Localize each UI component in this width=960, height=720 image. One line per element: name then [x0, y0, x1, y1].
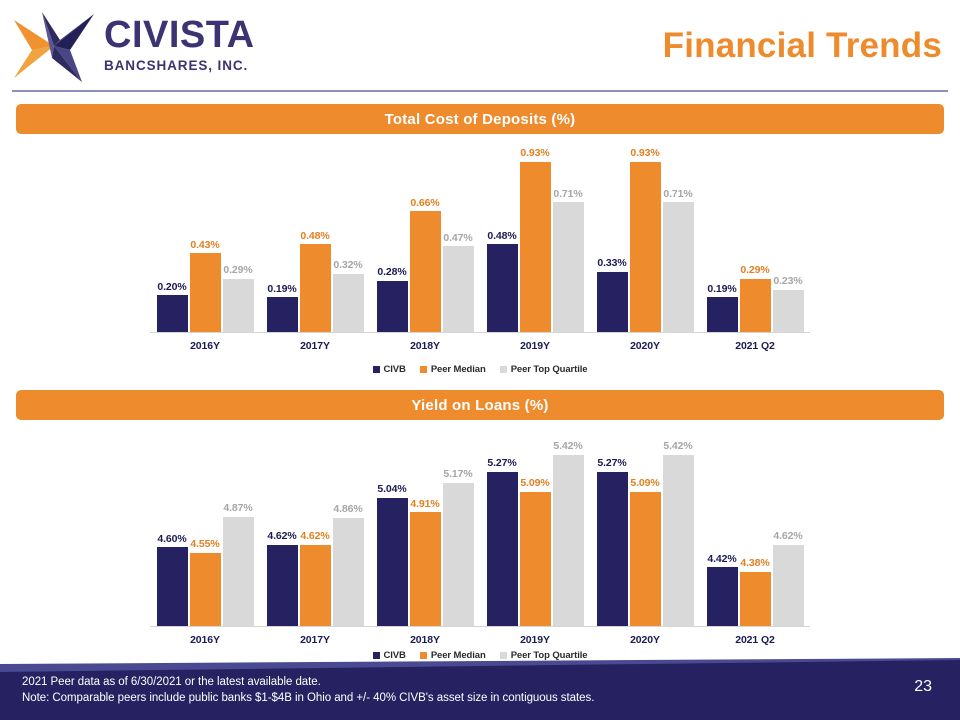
chart-bar-slot: 0.93% — [520, 148, 551, 332]
chart-group-bars: 4.42%4.38%4.62% — [700, 440, 810, 626]
chart-category-label: 2018Y — [370, 634, 480, 646]
chart-bar[interactable] — [410, 512, 441, 626]
chart-group-bars: 5.04%4.91%5.17% — [370, 440, 480, 626]
chart-bar-value-label: 4.38% — [740, 558, 769, 569]
footer-note-line-2: Note: Comparable peers include public ba… — [22, 690, 594, 706]
chart-bar[interactable] — [300, 244, 331, 332]
chart-bar-value-label: 4.62% — [267, 531, 296, 542]
chart-bar-value-label: 5.04% — [377, 484, 406, 495]
chart-bar-slot: 4.62% — [300, 531, 331, 626]
chart-bar[interactable] — [740, 279, 771, 332]
chart-group-2019y: 0.48%0.93%0.71% — [480, 140, 590, 332]
chart-bar[interactable] — [597, 272, 628, 332]
chart-category-label: 2021 Q2 — [700, 340, 810, 352]
chart-category-label: 2019Y — [480, 340, 590, 352]
legend-swatch-icon — [420, 366, 427, 373]
chart-plot-area: 0.20%0.43%0.29%0.19%0.48%0.32%0.28%0.66%… — [150, 140, 810, 332]
chart-bar-value-label: 5.27% — [597, 458, 626, 469]
chart-bar-slot: 0.93% — [630, 148, 661, 332]
chart-bar-slot: 5.42% — [553, 441, 584, 626]
chart-axis-line — [150, 626, 810, 627]
chart-group-2016y: 4.60%4.55%4.87% — [150, 440, 260, 626]
chart-bar-value-label: 0.48% — [487, 231, 516, 242]
chart-bar-slot: 0.71% — [663, 189, 694, 332]
chart-bar-value-label: 0.19% — [707, 284, 736, 295]
chart-bar-slot: 0.29% — [740, 265, 771, 332]
chart-group-bars: 0.33%0.93%0.71% — [590, 140, 700, 332]
legend-swatch-icon — [500, 366, 507, 373]
chart-bar-value-label: 0.33% — [597, 258, 626, 269]
chart-category-label: 2017Y — [260, 340, 370, 352]
logo-wordmark: CIVISTA BANCSHARES, INC. — [104, 16, 274, 73]
logo-subtitle: BANCSHARES, INC. — [104, 58, 274, 73]
footer-note-line-1: 2021 Peer data as of 6/30/2021 or the la… — [22, 674, 594, 690]
chart-bar-value-label: 0.71% — [553, 189, 582, 200]
chart-category-label: 2019Y — [480, 634, 590, 646]
chart-group-bars: 0.19%0.48%0.32% — [260, 140, 370, 332]
chart-bar[interactable] — [663, 202, 694, 332]
chart-bar[interactable] — [190, 553, 221, 626]
chart-category-label: 2016Y — [150, 340, 260, 352]
chart-bar-slot: 0.23% — [773, 276, 804, 332]
chart-bar[interactable] — [267, 297, 298, 332]
chart-bar[interactable] — [223, 517, 254, 626]
chart-group-2020y: 0.33%0.93%0.71% — [590, 140, 700, 332]
legend-item-quartile[interactable]: Peer Top Quartile — [500, 364, 588, 375]
chart-bar[interactable] — [520, 162, 551, 332]
chart-axis-line — [150, 332, 810, 333]
chart-group-bars: 5.27%5.09%5.42% — [480, 440, 590, 626]
header-divider — [12, 90, 948, 92]
chart-bar-slot: 0.28% — [377, 267, 408, 332]
chart-bar[interactable] — [157, 295, 188, 332]
chart-bar-slot: 4.60% — [157, 534, 188, 626]
legend-item-civb[interactable]: CIVB — [373, 364, 406, 375]
chart-bar[interactable] — [520, 492, 551, 626]
chart-bar-slot: 5.09% — [520, 478, 551, 626]
chart-bar-slot: 0.29% — [223, 265, 254, 332]
chart-bar-slot: 4.91% — [410, 499, 441, 626]
chart-group-bars: 0.20%0.43%0.29% — [150, 140, 260, 332]
chart-bar[interactable] — [377, 498, 408, 627]
chart-bar[interactable] — [223, 279, 254, 332]
chart-bar[interactable] — [300, 545, 331, 626]
chart-bar[interactable] — [553, 455, 584, 626]
chart-bar-value-label: 0.48% — [300, 231, 329, 242]
chart-bar-value-label: 0.47% — [443, 233, 472, 244]
chart-bar-slot: 4.87% — [223, 503, 254, 626]
chart-group-2016y: 0.20%0.43%0.29% — [150, 140, 260, 332]
chart-bar-slot: 4.38% — [740, 558, 771, 626]
chart-bar-slot: 0.71% — [553, 189, 584, 332]
chart-category-label: 2016Y — [150, 634, 260, 646]
chart-category-labels: 2016Y2017Y2018Y2019Y2020Y2021 Q2 — [150, 634, 810, 646]
chart-category-label: 2020Y — [590, 634, 700, 646]
chart-bar-slot: 5.17% — [443, 469, 474, 626]
chart-group-2020y: 5.27%5.09%5.42% — [590, 440, 700, 626]
chart-bar-value-label: 4.62% — [300, 531, 329, 542]
chart-bar[interactable] — [773, 545, 804, 626]
chart-bar-slot: 0.32% — [333, 260, 364, 332]
chart-bar[interactable] — [443, 246, 474, 332]
chart-bar-value-label: 5.27% — [487, 458, 516, 469]
chart-bar-value-label: 5.42% — [663, 441, 692, 452]
chart-bar[interactable] — [333, 274, 364, 333]
chart-group-bars: 0.19%0.29%0.23% — [700, 140, 810, 332]
chart-bar[interactable] — [553, 202, 584, 332]
chart-group-bars: 5.27%5.09%5.42% — [590, 440, 700, 626]
chart-plot-area: 4.60%4.55%4.87%4.62%4.62%4.86%5.04%4.91%… — [150, 440, 810, 626]
chart-bar-value-label: 5.09% — [630, 478, 659, 489]
chart-group-2017y: 4.62%4.62%4.86% — [260, 440, 370, 626]
chart-category-label: 2017Y — [260, 634, 370, 646]
chart-bar-slot: 4.86% — [333, 504, 364, 626]
section-banner-deposits: Total Cost of Deposits (%) — [16, 104, 944, 134]
chart-bar-slot: 4.42% — [707, 554, 738, 626]
slide-header: CIVISTA BANCSHARES, INC. Financial Trend… — [0, 0, 960, 92]
chart-bar-value-label: 0.32% — [333, 260, 362, 271]
chart-bar[interactable] — [773, 290, 804, 332]
chart-yield-on-loans: 4.60%4.55%4.87%4.62%4.62%4.86%5.04%4.91%… — [150, 440, 810, 670]
chart-group-bars: 0.48%0.93%0.71% — [480, 140, 590, 332]
chart-total-cost-of-deposits: 0.20%0.43%0.29%0.19%0.48%0.32%0.28%0.66%… — [150, 140, 810, 380]
chart-bar[interactable] — [443, 483, 474, 626]
chart-bar[interactable] — [707, 297, 738, 332]
chart-bar[interactable] — [377, 281, 408, 332]
chart-bar-value-label: 0.71% — [663, 189, 692, 200]
chart-group-bars: 4.62%4.62%4.86% — [260, 440, 370, 626]
chart-bar-slot: 5.09% — [630, 478, 661, 626]
legend-item-median[interactable]: Peer Median — [420, 364, 486, 375]
chart-category-label: 2021 Q2 — [700, 634, 810, 646]
chart-bar-slot: 4.55% — [190, 539, 221, 626]
chart-legend: CIVBPeer MedianPeer Top Quartile — [150, 364, 810, 375]
chart-bar[interactable] — [740, 572, 771, 626]
logo-name: CIVISTA — [104, 16, 274, 54]
legend-item-label: CIVB — [384, 364, 406, 375]
legend-item-label: Peer Median — [431, 364, 486, 375]
chart-bar-value-label: 4.42% — [707, 554, 736, 565]
civista-star-logo-icon — [12, 10, 96, 84]
chart-group-2018y: 5.04%4.91%5.17% — [370, 440, 480, 626]
chart-bar[interactable] — [707, 567, 738, 626]
chart-group-bars: 0.28%0.66%0.47% — [370, 140, 480, 332]
chart-bar-value-label: 0.93% — [630, 148, 659, 159]
chart-bar-value-label: 4.91% — [410, 499, 439, 510]
chart-bar[interactable] — [630, 162, 661, 332]
chart-bar-value-label: 4.62% — [773, 531, 802, 542]
slide-root: CIVISTA BANCSHARES, INC. Financial Trend… — [0, 0, 960, 720]
chart-bar-value-label: 4.55% — [190, 539, 219, 550]
chart-bar-value-label: 0.93% — [520, 148, 549, 159]
chart-bar-slot: 0.19% — [267, 284, 298, 332]
chart-bar-slot: 5.42% — [663, 441, 694, 626]
page-number: 23 — [914, 678, 932, 696]
chart-bar-slot: 0.33% — [597, 258, 628, 332]
chart-bar-slot: 0.48% — [300, 231, 331, 332]
chart-bar-slot: 4.62% — [267, 531, 298, 626]
chart-bar-slot: 4.62% — [773, 531, 804, 626]
chart-bar[interactable] — [410, 211, 441, 332]
chart-bar-value-label: 4.87% — [223, 503, 252, 514]
chart-bar[interactable] — [157, 547, 188, 626]
chart-bar-value-label: 0.29% — [740, 265, 769, 276]
chart-bar-value-label: 4.60% — [157, 534, 186, 545]
chart-group-2017y: 0.19%0.48%0.32% — [260, 140, 370, 332]
chart-bar[interactable] — [333, 518, 364, 626]
chart-bar[interactable] — [487, 244, 518, 332]
chart-bar[interactable] — [190, 253, 221, 332]
chart-bar-slot: 0.48% — [487, 231, 518, 332]
chart-category-label: 2018Y — [370, 340, 480, 352]
section-banner-yield: Yield on Loans (%) — [16, 390, 944, 420]
chart-bar-value-label: 0.43% — [190, 240, 219, 251]
company-logo: CIVISTA BANCSHARES, INC. — [12, 8, 262, 84]
chart-group-bars: 4.60%4.55%4.87% — [150, 440, 260, 626]
chart-bar-slot: 0.47% — [443, 233, 474, 332]
chart-bar-value-label: 0.66% — [410, 198, 439, 209]
chart-group-2018y: 0.28%0.66%0.47% — [370, 140, 480, 332]
chart-bar-value-label: 5.42% — [553, 441, 582, 452]
chart-bar-groups: 4.60%4.55%4.87%4.62%4.62%4.86%5.04%4.91%… — [150, 440, 810, 626]
chart-bar-value-label: 4.86% — [333, 504, 362, 515]
footer-note: 2021 Peer data as of 6/30/2021 or the la… — [22, 674, 594, 707]
chart-bar[interactable] — [663, 455, 694, 626]
chart-category-label: 2020Y — [590, 340, 700, 352]
chart-bar-value-label: 0.23% — [773, 276, 802, 287]
chart-bar[interactable] — [267, 545, 298, 626]
chart-bar[interactable] — [597, 472, 628, 626]
chart-bar-value-label: 0.29% — [223, 265, 252, 276]
chart-bar-value-label: 5.17% — [443, 469, 472, 480]
chart-bar-groups: 0.20%0.43%0.29%0.19%0.48%0.32%0.28%0.66%… — [150, 140, 810, 332]
legend-swatch-icon — [373, 366, 380, 373]
chart-bar-value-label: 0.28% — [377, 267, 406, 278]
chart-bar-slot: 0.43% — [190, 240, 221, 332]
section-banner-deposits-label: Total Cost of Deposits (%) — [385, 111, 576, 128]
chart-bar-slot: 0.20% — [157, 282, 188, 332]
chart-bar[interactable] — [487, 472, 518, 626]
chart-bar[interactable] — [630, 492, 661, 626]
chart-group-2019y: 5.27%5.09%5.42% — [480, 440, 590, 626]
chart-bar-slot: 5.27% — [487, 458, 518, 626]
page-title: Financial Trends — [663, 26, 942, 66]
chart-bar-slot: 5.27% — [597, 458, 628, 626]
chart-bar-value-label: 0.19% — [267, 284, 296, 295]
legend-item-label: Peer Top Quartile — [511, 364, 588, 375]
chart-category-labels: 2016Y2017Y2018Y2019Y2020Y2021 Q2 — [150, 340, 810, 352]
chart-bar-slot: 0.66% — [410, 198, 441, 332]
chart-bar-value-label: 0.20% — [157, 282, 186, 293]
chart-bar-slot: 5.04% — [377, 484, 408, 626]
chart-bar-slot: 0.19% — [707, 284, 738, 332]
chart-bar-value-label: 5.09% — [520, 478, 549, 489]
slide-footer: 2021 Peer data as of 6/30/2021 or the la… — [0, 658, 960, 720]
chart-group-2021-q2: 4.42%4.38%4.62% — [700, 440, 810, 626]
chart-group-2021-q2: 0.19%0.29%0.23% — [700, 140, 810, 332]
section-banner-yield-label: Yield on Loans (%) — [411, 397, 548, 414]
